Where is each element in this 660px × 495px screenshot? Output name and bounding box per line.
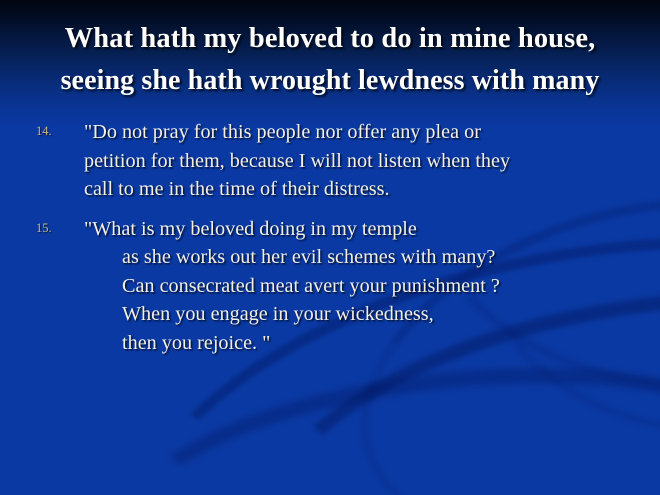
verse-text: "Do not pray for this people nor offer a… — [84, 118, 660, 204]
slide-title-line-2: seeing she hath wrought lewdness with ma… — [0, 60, 660, 102]
verse-line: "What is my beloved doing in my temple — [84, 215, 660, 244]
verse-line: petition for them, because I will not li… — [84, 147, 660, 176]
slide-title-line-1: What hath my beloved to do in mine house… — [0, 18, 660, 60]
verse-line: When you engage in your wickedness, — [84, 300, 660, 329]
verse-item: 15. "What is my beloved doing in my temp… — [0, 215, 660, 358]
verse-number: 15. — [36, 221, 70, 236]
verse-line: as she works out her evil schemes with m… — [84, 243, 660, 272]
verse-line: Can consecrated meat avert your punishme… — [84, 272, 660, 301]
verse-number: 14. — [36, 124, 70, 139]
verse-item: 14. "Do not pray for this people nor off… — [0, 118, 660, 204]
verse-line: call to me in the time of their distress… — [84, 175, 660, 204]
slide-body: 14. "Do not pray for this people nor off… — [0, 118, 660, 368]
slide-title: What hath my beloved to do in mine house… — [0, 18, 660, 102]
verse-line: "Do not pray for this people nor offer a… — [84, 118, 660, 147]
presentation-slide: What hath my beloved to do in mine house… — [0, 0, 660, 495]
verse-line: then you rejoice. " — [84, 329, 660, 358]
verse-text: "What is my beloved doing in my temple a… — [84, 215, 660, 358]
